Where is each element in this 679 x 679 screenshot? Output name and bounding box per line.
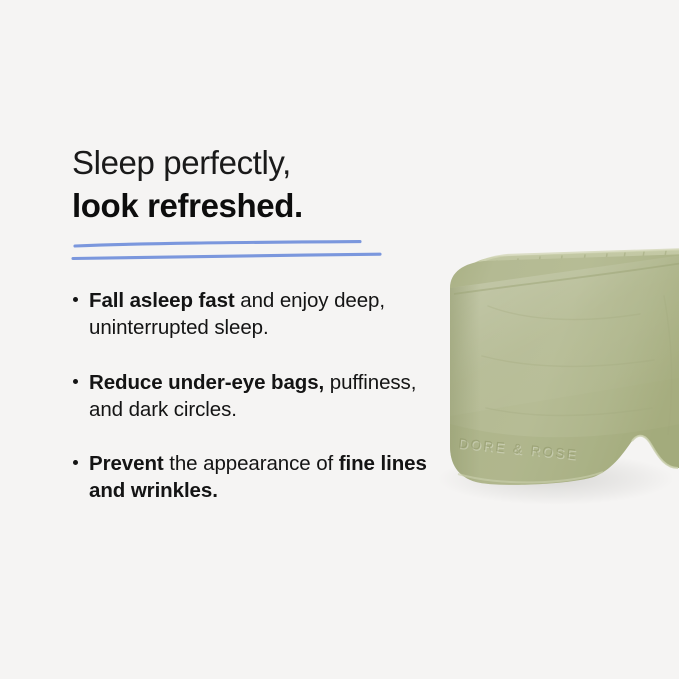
bullet-dot-icon — [73, 297, 78, 302]
benefit-text: Fall asleep fast and enjoy deep, uninter… — [89, 287, 442, 342]
bullet-dot-icon — [73, 460, 78, 465]
list-item: Prevent the appearance of fine lines and… — [72, 450, 442, 505]
benefit-text: Reduce under-eye bags, puffiness, and da… — [89, 369, 442, 424]
benefit-rest: the appearance of — [164, 452, 339, 475]
product-feature-card: Sleep perfectly, look refreshed. Fall as… — [0, 0, 679, 679]
underline-accent — [72, 239, 392, 265]
text-content-column: Sleep perfectly, look refreshed. Fall as… — [72, 142, 442, 505]
benefit-bold-lead: Reduce under-eye bags, — [89, 371, 324, 394]
headline-line-2: look refreshed. — [72, 185, 442, 227]
benefit-bold-lead: Prevent — [89, 452, 164, 475]
benefit-text: Prevent the appearance of fine lines and… — [89, 450, 442, 505]
underline-stroke-bottom — [73, 254, 380, 258]
benefit-bold-lead: Fall asleep fast — [89, 289, 235, 312]
bullet-dot-icon — [73, 379, 78, 384]
headline-line-1: Sleep perfectly, — [72, 142, 442, 185]
page-title: Sleep perfectly, look refreshed. — [72, 142, 442, 227]
list-item: Reduce under-eye bags, puffiness, and da… — [72, 369, 442, 424]
underline-stroke-top — [75, 242, 360, 246]
benefits-list: Fall asleep fast and enjoy deep, uninter… — [72, 287, 442, 505]
product-image-sleep-mask: DORE & ROSE DORE & ROSE — [428, 236, 679, 511]
list-item: Fall asleep fast and enjoy deep, uninter… — [72, 287, 442, 342]
